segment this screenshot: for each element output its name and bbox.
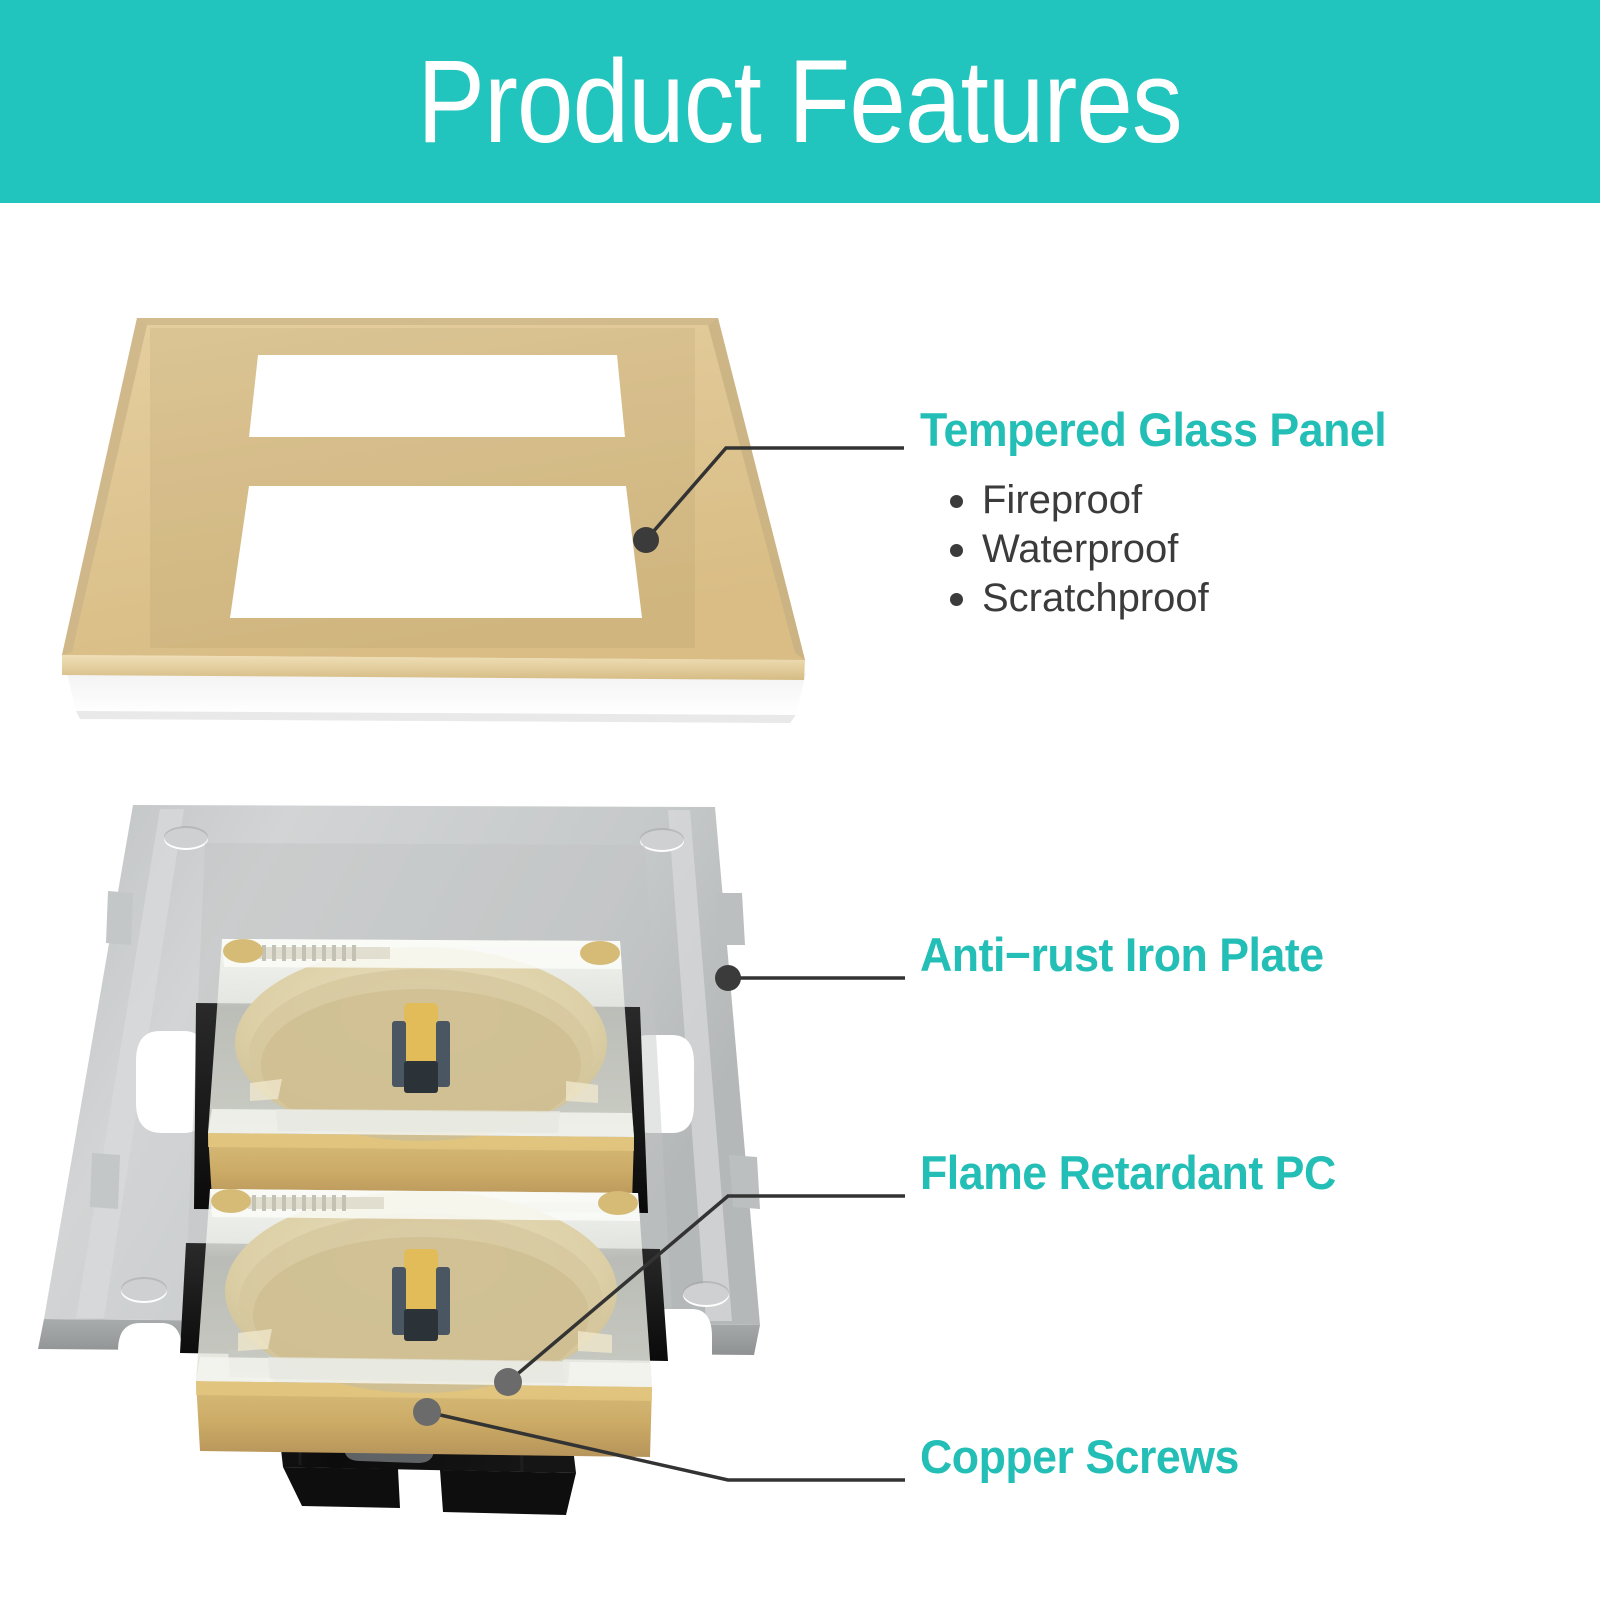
hinge-comb-lower	[248, 1195, 384, 1211]
socket-module-lower	[196, 1189, 652, 1457]
callout-copper-screws: Copper Screws	[920, 1432, 1256, 1481]
callout-title: Anti−rust Iron Plate	[920, 930, 1324, 979]
socket-assembly-graphic	[0, 203, 900, 1600]
callout-title: Flame Retardant PC	[920, 1148, 1336, 1197]
page-title: Product Features	[418, 43, 1183, 161]
callout-title: Tempered Glass Panel	[920, 405, 1386, 454]
header-banner: Product Features	[0, 0, 1600, 203]
callout-title: Copper Screws	[920, 1432, 1239, 1481]
socket-module-upper	[208, 939, 634, 1203]
bullet-item: Waterproof	[948, 525, 1411, 574]
bullet-item: Scratchproof	[948, 574, 1411, 623]
callout-tempered-glass-panel: Tempered Glass Panel Fireproof Waterproo…	[920, 405, 1411, 623]
callout-anti-rust-iron-plate: Anti−rust Iron Plate	[920, 930, 1345, 979]
hinge-comb-upper	[258, 945, 390, 961]
bullet-item: Fireproof	[948, 476, 1411, 525]
callout-flame-retardant-pc: Flame Retardant PC	[920, 1148, 1358, 1197]
socket-assembly-svg	[0, 203, 900, 1600]
product-features-infographic: Product Features	[0, 0, 1600, 1600]
callout-bullets: Fireproof Waterproof Scratchproof	[948, 476, 1411, 622]
